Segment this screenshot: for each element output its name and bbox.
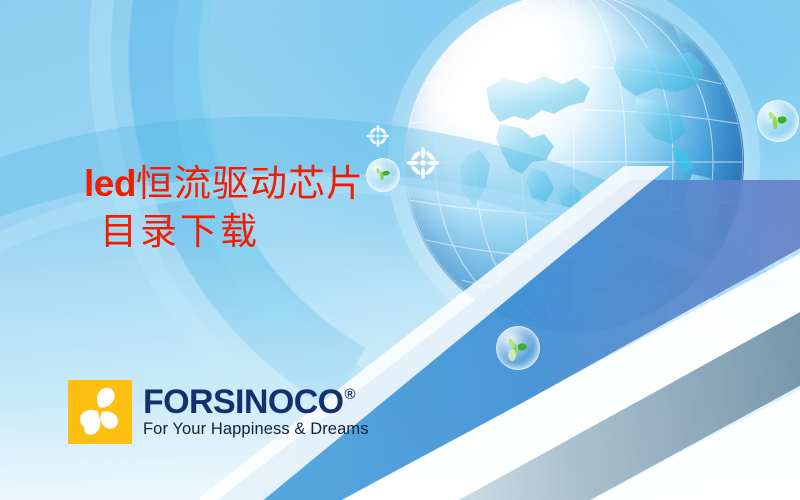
registered-trademark-icon: ® xyxy=(345,387,355,402)
logo-text-block: FORSINOCO® For Your Happiness & Dreams xyxy=(143,385,369,440)
headline: led恒流驱动芯片 目录下载 xyxy=(84,160,364,256)
bubble-icon xyxy=(496,326,540,370)
green-leaf-icon xyxy=(366,158,400,192)
headline-latin: led xyxy=(84,163,136,204)
bubble-icon xyxy=(757,100,799,142)
logo-tagline: For Your Happiness & Dreams xyxy=(143,420,369,439)
logo-wordmark: FORSINOCO® xyxy=(143,385,369,420)
headline-line-1: led恒流驱动芯片 xyxy=(84,160,364,208)
headline-cjk: 恒流驱动芯片 xyxy=(136,162,364,205)
green-leaf-icon xyxy=(496,326,540,370)
four-petal-flower-icon xyxy=(68,380,132,444)
logo-wordmark-text: FORSINOCO xyxy=(143,385,344,420)
flower-sparkle-icon xyxy=(406,146,440,185)
green-leaf-icon xyxy=(757,100,799,142)
promo-banner: led恒流驱动芯片 目录下载 FORSINOCO® For Your Happi… xyxy=(0,0,800,500)
flower-sparkle-icon xyxy=(366,124,390,153)
bubble-icon xyxy=(366,158,400,192)
headline-line-2: 目录下载 xyxy=(84,208,364,256)
brand-logo: FORSINOCO® For Your Happiness & Dreams xyxy=(68,380,369,444)
